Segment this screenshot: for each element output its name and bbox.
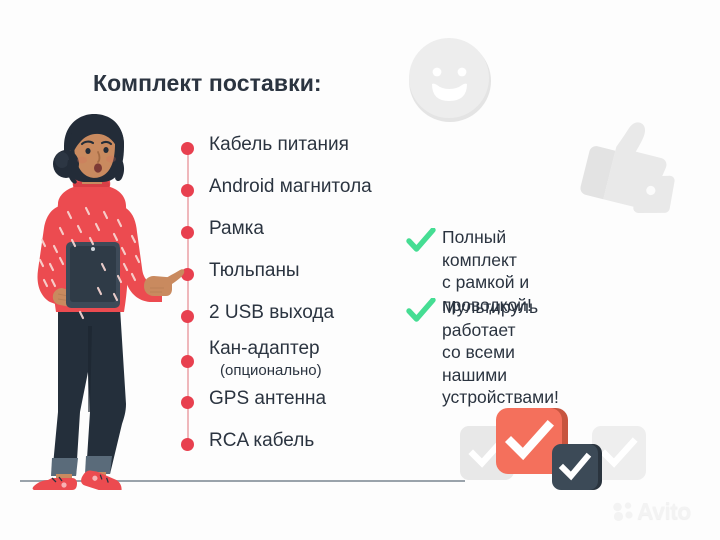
avito-watermark: Avito [612,498,708,524]
checkbox-card-dark [552,444,598,490]
list-item-label: GPS антенна [209,387,326,411]
woman-illustration [14,112,189,490]
list-item-label: Рамка [209,217,264,241]
page-title: Комплект поставки: [93,70,322,97]
feature-label: Мультируль работает со всеми нашими устр… [442,296,559,409]
list-item-label: RCA кабель [209,429,314,453]
list-item-label: Кан-адаптер [209,337,320,361]
list-item-sublabel: (опционально) [220,361,322,381]
check-icon [406,228,436,256]
avito-wordmark: Avito [637,500,691,523]
check-icon [406,298,436,326]
smiley-face-icon [404,34,496,126]
list-item-label: 2 USB выхода [209,301,334,325]
promo-banner: Комплект поставки: Кабель питания Androi… [0,0,720,540]
list-item-label: Android магнитола [209,175,372,199]
thumbs-up-icon [572,112,682,220]
avito-logo-icon [612,501,634,521]
list-item-label: Тюльпаны [209,259,300,283]
list-item-label: Кабель питания [209,133,349,157]
checkbox-cluster [458,404,648,496]
